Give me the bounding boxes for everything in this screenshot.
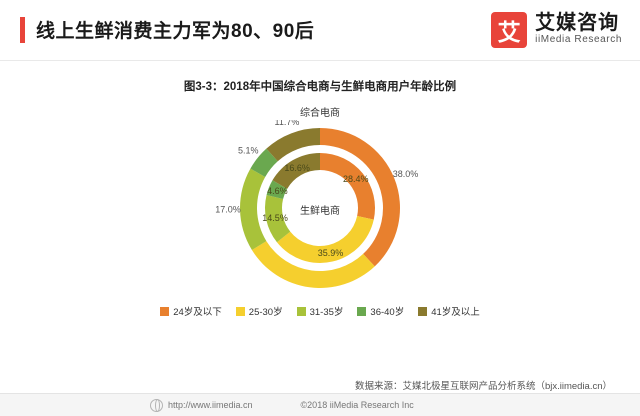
footer-site: http://www.iimedia.cn <box>150 399 253 412</box>
footer-site-text: http://www.iimedia.cn <box>168 400 253 410</box>
donut-slice-label: 28.2% <box>295 294 321 295</box>
legend-label: 31-35岁 <box>310 304 344 318</box>
brand-name-en: iiMedia Research <box>535 33 622 47</box>
legend-label: 41岁及以上 <box>431 304 480 318</box>
page-footer: http://www.iimedia.cn ©2018 iiMedia Rese… <box>0 393 640 416</box>
donut-slice-label: 38.0% <box>393 169 419 179</box>
page-header: 线上生鲜消费主力军为80、90后 艾 艾媒咨询 iiMedia Research <box>0 0 640 61</box>
donut-slice-label: 5.1% <box>238 145 259 155</box>
legend-item[interactable]: 31-35岁 <box>297 304 344 318</box>
data-source-note: 数据来源：艾媒北极星互联网产品分析系统（bjx.iimedia.cn） <box>355 378 612 392</box>
brand-mark-icon: 艾 <box>491 12 527 48</box>
legend-item[interactable]: 24岁及以下 <box>160 304 222 318</box>
legend-item[interactable]: 25-30岁 <box>236 304 283 318</box>
legend-item[interactable]: 36-40岁 <box>357 304 404 318</box>
legend-swatch-icon <box>297 307 306 316</box>
chart-legend: 24岁及以下25-30岁31-35岁36-40岁41岁及以上 <box>0 304 640 318</box>
legend-label: 24岁及以下 <box>173 304 222 318</box>
footer-copyright: ©2018 iiMedia Research Inc <box>301 400 414 410</box>
donut-slice-label: 28.4% <box>343 174 369 184</box>
legend-swatch-icon <box>357 307 366 316</box>
globe-icon <box>150 399 163 412</box>
donut-slice[interactable] <box>240 169 266 250</box>
header-accent-bar <box>20 17 25 43</box>
donut-slice-label: 35.9% <box>318 248 344 258</box>
donut-slice-label: 14.5% <box>262 213 288 223</box>
legend-label: 25-30岁 <box>249 304 283 318</box>
donut-slice-label: 4.6% <box>267 186 288 196</box>
brand-name-cn: 艾媒咨询 <box>535 13 622 33</box>
legend-swatch-icon <box>160 307 169 316</box>
brand-text: 艾媒咨询 iiMedia Research <box>535 13 622 47</box>
page-title: 线上生鲜消费主力军为80、90后 <box>36 16 314 43</box>
legend-item[interactable]: 41岁及以上 <box>418 304 480 318</box>
donut-slice-label: 17.0% <box>215 205 241 215</box>
legend-swatch-icon <box>418 307 427 316</box>
outer-ring-label: 综合电商 <box>0 104 640 119</box>
legend-swatch-icon <box>236 307 245 316</box>
donut-svg: 38.0%28.2%17.0%5.1%11.7%28.4%35.9%14.5%4… <box>190 120 450 295</box>
brand-logo: 艾 艾媒咨询 iiMedia Research <box>491 11 622 49</box>
donut-chart: 38.0%28.2%17.0%5.1%11.7%28.4%35.9%14.5%4… <box>190 120 450 295</box>
chart-title: 图3-3：2018年中国综合电商与生鲜电商用户年龄比例 <box>0 78 640 94</box>
legend-label: 36-40岁 <box>370 304 404 318</box>
donut-slice-label: 16.6% <box>284 163 310 173</box>
donut-arcs <box>240 128 400 288</box>
donut-slice-label: 11.7% <box>275 120 300 127</box>
